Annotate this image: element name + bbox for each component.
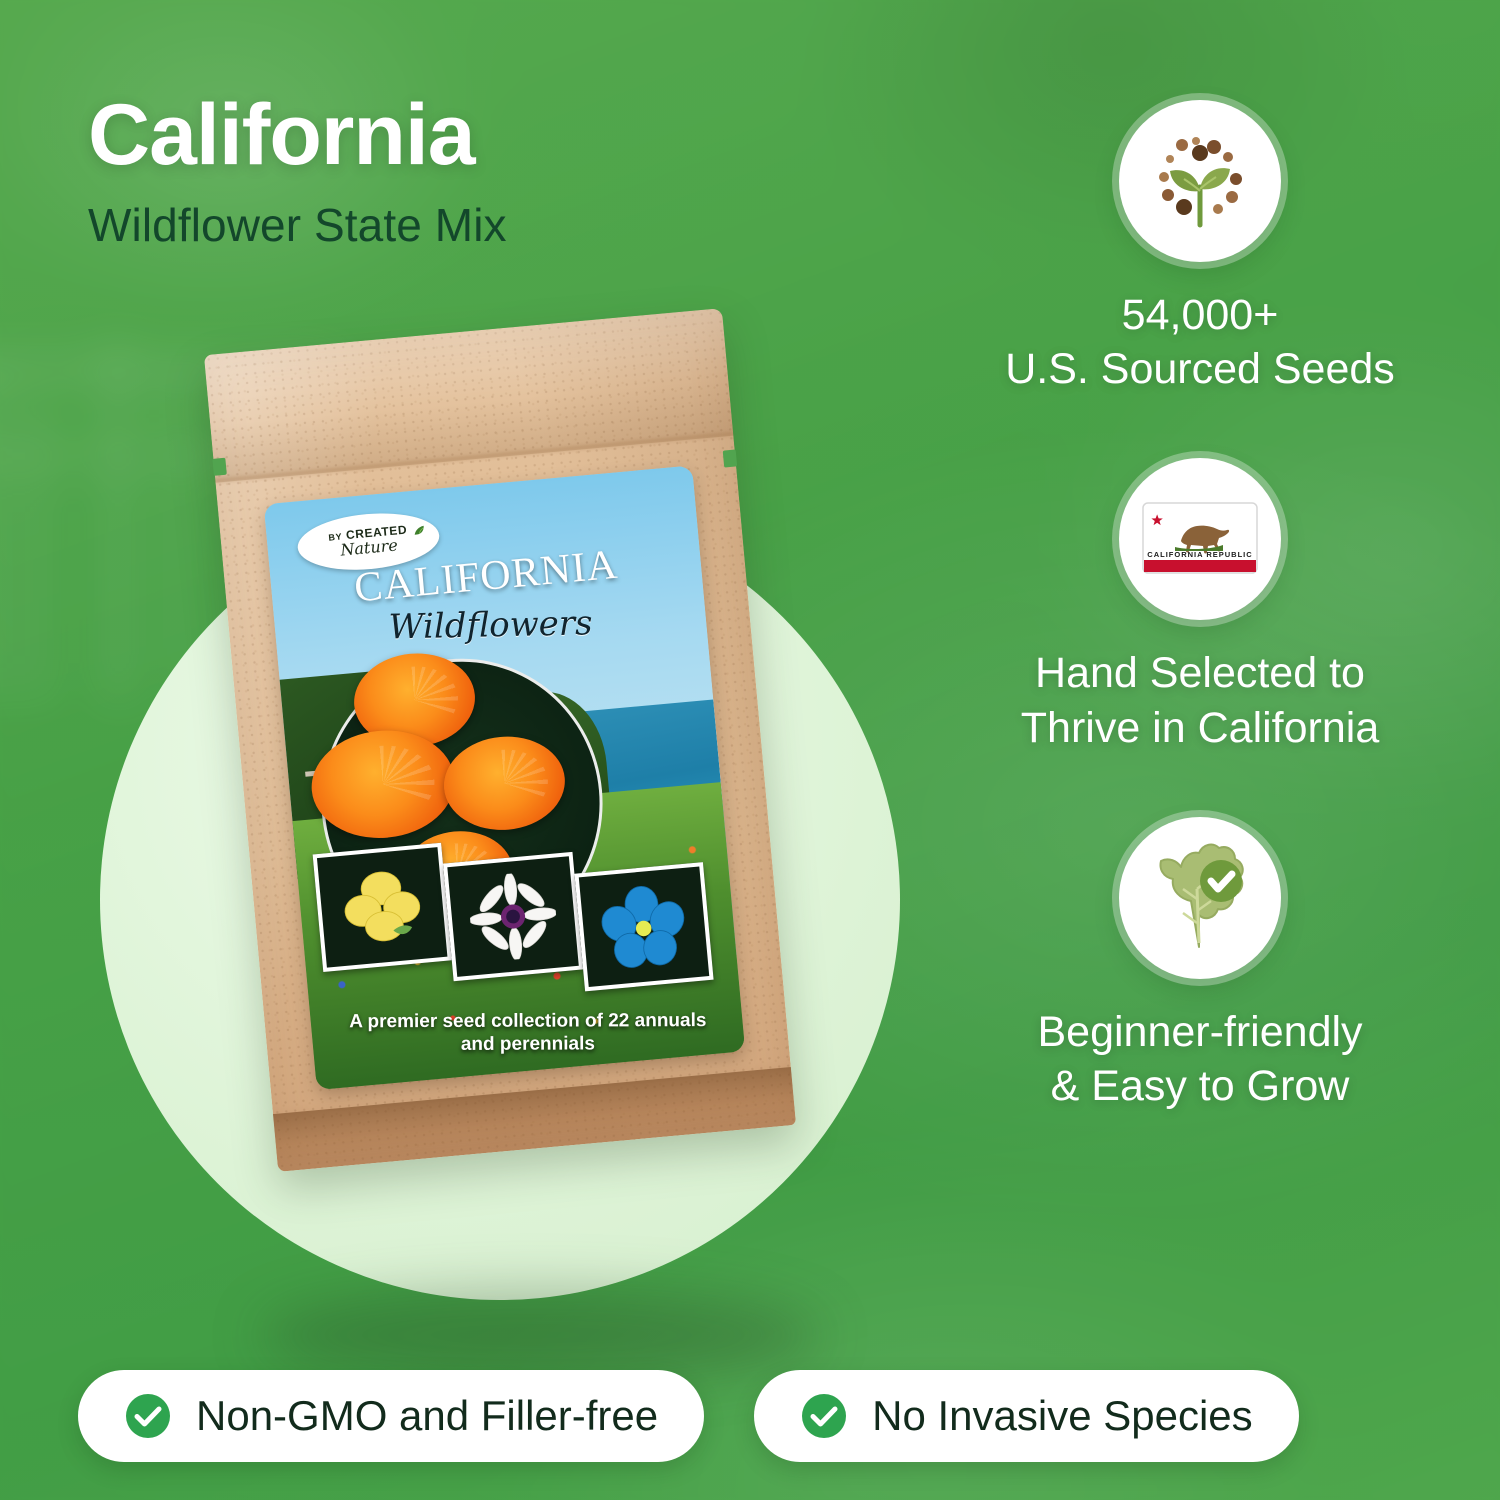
yellow-evening-primrose-icon (335, 860, 428, 953)
badge-no-invasive-species-label: No Invasive Species (872, 1392, 1253, 1440)
blue-flax-icon (597, 880, 690, 973)
page-title: California (88, 92, 908, 178)
headline-block: California Wildflower State Mix (88, 92, 908, 251)
label-product-script: Wildflowers (275, 600, 706, 649)
check-circle-icon (800, 1392, 848, 1440)
badge-row: Non-GMO and Filler-free No Invasive Spec… (78, 1370, 1440, 1462)
product-infographic: California Wildflower State Mix (0, 0, 1500, 1500)
page-subtitle: Wildflower State Mix (88, 200, 908, 251)
product-scene: BY CREATED Nature CALIFORNIA Wildflowers (80, 290, 920, 1280)
feature-beginner-friendly-line2: & Easy to Grow (930, 1059, 1470, 1113)
white-osteospermum-daisy-icon (466, 870, 559, 963)
tear-notch-right-icon (723, 449, 737, 467)
seedling-with-seeds-icon (1119, 100, 1281, 262)
packet-label: BY CREATED Nature CALIFORNIA Wildflowers (264, 465, 746, 1090)
poppy-flower (440, 731, 569, 835)
leaf-sprig-icon (412, 523, 426, 537)
badge-non-gmo-label: Non-GMO and Filler-free (196, 1392, 658, 1440)
feature-list: 54,000+ U.S. Sourced Seeds CALIFORNIA RE… (930, 100, 1470, 1175)
badge-non-gmo[interactable]: Non-GMO and Filler-free (78, 1370, 704, 1462)
packet-drop-shadow (260, 1290, 820, 1380)
seed-packet[interactable]: BY CREATED Nature CALIFORNIA Wildflowers (204, 308, 796, 1172)
thumbnail-blue-flax (574, 862, 713, 991)
tear-notch-left-icon (212, 458, 226, 476)
feature-california-selected-line2: Thrive in California (930, 701, 1470, 755)
feature-beginner-friendly: Beginner-friendly & Easy to Grow (930, 817, 1470, 1113)
feature-seed-count: 54,000+ U.S. Sourced Seeds (930, 100, 1470, 396)
badge-no-invasive-species[interactable]: No Invasive Species (754, 1370, 1299, 1462)
feature-california-selected-line1: Hand Selected to (930, 646, 1470, 700)
label-footer-text: A premier seed collection of 22 annuals … (338, 1009, 717, 1057)
thumbnail-yellow-flower (313, 843, 452, 972)
flag-text: CALIFORNIA REPUBLIC (1147, 550, 1252, 559)
feature-california-selected: CALIFORNIA REPUBLIC Hand Selected to Thr… (930, 458, 1470, 754)
feature-seed-count-line1: 54,000+ (930, 288, 1470, 342)
leaf-check-icon (1119, 817, 1281, 979)
thumbnail-white-daisy (443, 852, 582, 981)
check-circle-icon (124, 1392, 172, 1440)
feature-seed-count-line2: U.S. Sourced Seeds (930, 342, 1470, 396)
california-flag-icon: CALIFORNIA REPUBLIC (1119, 458, 1281, 620)
logo-nature-script: Nature (340, 537, 399, 558)
feature-beginner-friendly-line1: Beginner-friendly (930, 1005, 1470, 1059)
